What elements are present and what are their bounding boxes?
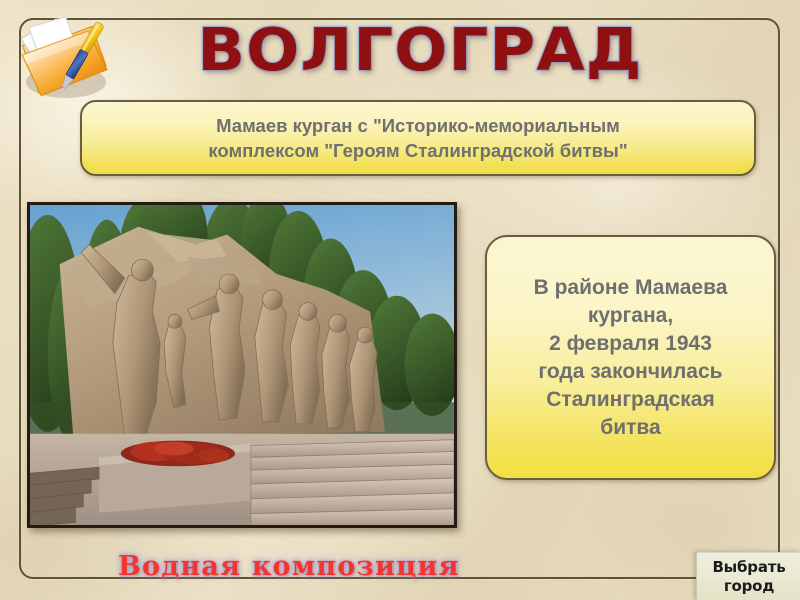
photo-caption: Водная композиция — [118, 551, 460, 583]
presentation-slide: ВОЛГОГРАД Мамаев курган с "Историко-мемо… — [0, 0, 800, 600]
subtitle-callout-box: Мамаев курган с "Историко-мемориальным к… — [80, 100, 756, 176]
choose-city-button-label-line-2: город — [724, 577, 774, 596]
info-line-6: битва — [600, 416, 660, 439]
info-line-2: кургана, — [588, 304, 673, 327]
info-line-3: 2 февраля 1943 — [549, 332, 712, 355]
subtitle-line-2: комплексом "Героям Сталинградской битвы" — [208, 140, 627, 161]
subtitle-text: Мамаев курган с "Историко-мемориальным к… — [194, 113, 641, 163]
choose-city-button[interactable]: Выбрать город — [696, 552, 800, 600]
info-line-5: Сталинградская — [546, 388, 715, 411]
info-line-4: года закончилась — [538, 360, 722, 383]
subtitle-line-1: Мамаев курган с "Историко-мемориальным — [216, 115, 620, 136]
info-line-1: В районе Мамаева — [534, 276, 728, 299]
choose-city-button-label-line-1: Выбрать — [712, 558, 785, 577]
memorial-photo-image — [30, 205, 454, 526]
page-title: ВОЛГОГРАД — [144, 18, 695, 82]
folder-with-pen-icon — [8, 8, 120, 108]
info-text: В районе Мамаева кургана, 2 февраля 1943… — [522, 274, 740, 442]
memorial-photo — [27, 202, 457, 528]
info-callout-box: В районе Мамаева кургана, 2 февраля 1943… — [485, 235, 776, 480]
